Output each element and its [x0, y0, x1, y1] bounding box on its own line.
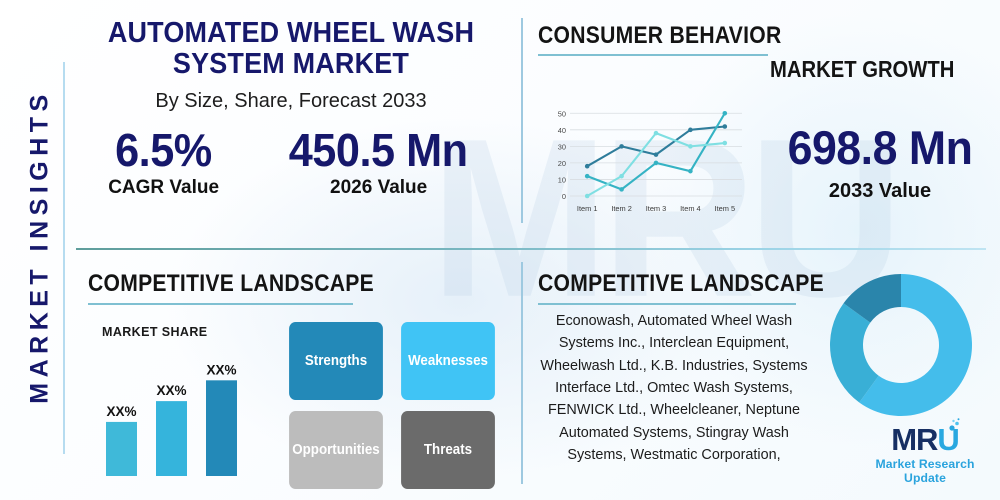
kpi-2026-label: 2026 Value	[283, 177, 473, 199]
consumer-behavior-line-chart: 01020304050Item 1Item 2Item 3Item 4Item …	[548, 100, 748, 218]
page-title: AUTOMATED WHEEL WASH SYSTEM MARKET	[91, 18, 491, 81]
competitive-landscape-right-rule	[538, 303, 796, 305]
kpi-cagr: 6.5% CAGR Value	[108, 126, 219, 199]
vertical-divider-top	[521, 18, 523, 223]
swot-opportunities[interactable]: Opportunities	[289, 411, 383, 489]
market-growth-heading: MARKET GROWTH	[770, 56, 954, 83]
rail-label: MARKET INSIGHTS	[26, 37, 55, 457]
svg-text:Item 4: Item 4	[680, 204, 701, 213]
market-growth-label: 2033 Value	[770, 180, 990, 203]
left-rail: MARKET INSIGHTS	[0, 0, 64, 500]
svg-text:XX%: XX%	[206, 362, 236, 377]
page-subtitle: By Size, Share, Forecast 2033	[76, 90, 506, 113]
swot-threats[interactable]: Threats	[401, 411, 495, 489]
vertical-divider-bottom	[521, 262, 523, 484]
svg-text:30: 30	[558, 142, 566, 151]
swot-grid: Strengths Weaknesses Opportunities Threa…	[285, 322, 499, 489]
swot-strengths[interactable]: Strengths	[289, 322, 383, 400]
consumer-behavior-header: CONSUMER BEHAVIOR	[538, 22, 788, 56]
competitive-landscape-left-rule	[88, 303, 353, 305]
horizontal-divider	[76, 248, 986, 250]
bubbles-icon	[947, 417, 963, 433]
rail-divider	[63, 62, 65, 454]
competitive-landscape-left-heading: COMPETITIVE LANDSCAPE	[88, 270, 352, 298]
svg-text:XX%: XX%	[106, 404, 136, 419]
svg-text:20: 20	[558, 159, 566, 168]
svg-text:0: 0	[562, 192, 566, 201]
company-list: Econowash, Automated Wheel Wash Systems …	[530, 310, 818, 466]
svg-text:10: 10	[558, 175, 566, 184]
kpi-2026: 450.5 Mn 2026 Value	[283, 126, 473, 199]
svg-text:Item 1: Item 1	[577, 204, 598, 213]
logo-tagline: Market Research Update	[855, 457, 995, 485]
svg-text:Item 2: Item 2	[611, 204, 632, 213]
svg-text:XX%: XX%	[156, 383, 186, 398]
consumer-behavior-rule	[538, 54, 768, 56]
svg-text:Item 5: Item 5	[715, 204, 736, 213]
competitive-landscape-left-header: COMPETITIVE LANDSCAPE	[88, 270, 388, 305]
kpi-cagr-value: 6.5%	[112, 126, 216, 174]
logo-mark: MRU	[891, 424, 959, 455]
market-share-label: MARKET SHARE	[102, 325, 208, 339]
competitive-landscape-right-heading: COMPETITIVE LANDSCAPE	[538, 270, 802, 298]
kpi-row: 6.5% CAGR Value 450.5 Mn 2026 Value	[76, 126, 506, 199]
mru-logo: MRU Market Research Update	[855, 424, 995, 485]
logo-mark-dark: MR	[891, 422, 937, 457]
svg-text:40: 40	[558, 126, 566, 135]
consumer-behavior-heading: CONSUMER BEHAVIOR	[538, 22, 758, 50]
infographic-canvas: MRU MARKET INSIGHTS AUTOMATED WHEEL WASH…	[0, 0, 1000, 500]
competitive-landscape-right-header: COMPETITIVE LANDSCAPE	[538, 270, 838, 305]
market-share-bar-chart: XX%XX%XX%	[98, 338, 268, 478]
market-growth-value: 698.8 Mn	[776, 120, 985, 175]
market-share-donut-chart	[828, 272, 974, 418]
swot-weaknesses[interactable]: Weaknesses	[401, 322, 495, 400]
kpi-2026-value: 450.5 Mn	[289, 126, 468, 174]
svg-text:50: 50	[558, 109, 566, 118]
svg-text:Item 3: Item 3	[646, 204, 667, 213]
kpi-cagr-label: CAGR Value	[108, 177, 219, 199]
